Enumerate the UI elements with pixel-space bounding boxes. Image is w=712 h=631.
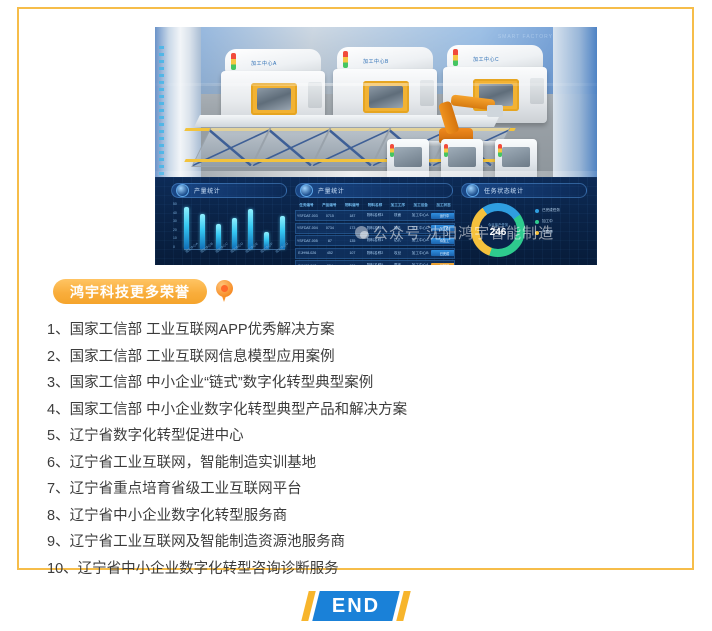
- table-cell: 87: [319, 239, 342, 243]
- table-cell: 铣面: [386, 213, 409, 218]
- table-cell: 攻丝: [386, 251, 409, 256]
- honor-item: 5、辽宁省数字化转型促进中心: [47, 423, 667, 450]
- status-lamp-icon: [343, 51, 348, 68]
- agv-unit: [387, 139, 429, 181]
- agv-unit: [495, 139, 537, 181]
- table-cell: 加工中心A: [409, 213, 432, 218]
- y-tick-label: 0: [173, 246, 183, 249]
- table-cell: EJH88-017: [296, 264, 319, 266]
- table-cell: 452: [319, 251, 342, 255]
- honor-item: 6、辽宁省工业互联网，智能制造实训基地: [47, 450, 667, 477]
- table-column-header: 加工状态: [432, 203, 455, 208]
- location-pin-icon: [216, 280, 233, 303]
- panel-header-output-table: 产量统计: [295, 183, 453, 198]
- donut-ring: 今日接产任务 246: [471, 203, 525, 257]
- legend-color-swatch: [535, 220, 539, 224]
- table-row[interactable]: EJH98-026452107物料名称2攻丝加工中心B已完成: [295, 248, 455, 259]
- table-row[interactable]: YSFDAT-0040734173物料名称4镗孔加工中心D加工中: [295, 223, 455, 234]
- honors-badge: 鸿宇科技更多荣誉: [53, 279, 207, 304]
- robot-end-effector: [487, 105, 503, 117]
- table-cell: 物料名称5: [364, 263, 387, 265]
- honor-item: 3、国家工信部 中小企业“链式”数字化转型典型案例: [47, 370, 667, 397]
- legend-item: 已完成任务25%61: [535, 205, 597, 216]
- status-lamp-icon: [231, 53, 236, 70]
- y-tick-label: 50: [173, 203, 183, 206]
- agv-window: [502, 147, 530, 167]
- table-cell: 135: [341, 239, 364, 243]
- honor-item: 2、国家工信部 工业互联网信息模型应用案例: [47, 344, 667, 371]
- bar-chart-y-axis: 50403020100: [173, 203, 183, 249]
- legend-percent: 25%: [592, 209, 597, 213]
- honor-item: 10、辽宁省中小企业数字化转型咨询诊断服务: [47, 556, 667, 583]
- donut-center: 今日接产任务 246: [479, 211, 517, 249]
- table-cell: 物料名称4: [364, 226, 387, 231]
- end-label: END: [332, 595, 380, 618]
- table-cell: 136: [341, 264, 364, 266]
- y-tick-label: 30: [173, 220, 183, 223]
- status-badge-label: 待加工: [431, 238, 454, 244]
- panel-orb-icon: [176, 184, 189, 197]
- status-badge: 加工中: [431, 225, 454, 231]
- table-cell: 物料名称2: [364, 251, 387, 256]
- status-lamp-icon: [453, 49, 458, 66]
- agv-window: [448, 147, 476, 167]
- legend-item: 已暂停30%74: [535, 227, 597, 238]
- factory-dashboard: 产量统计 产量统计 任务状态统计 50403020100 加工中心A加工中心B加…: [155, 177, 597, 265]
- legend-color-swatch: [535, 209, 539, 213]
- bar-chart-x-axis: 加工中心A加工中心B加工中心C加工中心D加工中心E加工中心F加工中心G: [184, 250, 285, 255]
- donut-legend: 已完成任务25%61加工中40%98已暂停30%74: [535, 205, 597, 238]
- factory-scene: SMART FACTORY 加工中心A 加工中心B: [155, 27, 597, 265]
- panel-header-task-status: 任务状态统计: [461, 183, 587, 198]
- table-cell: 234: [319, 264, 342, 266]
- table-cell: 0734: [319, 226, 342, 230]
- honors-heading: 鸿宇科技更多荣誉: [53, 279, 233, 304]
- table-cell: 加工中心A: [409, 238, 432, 243]
- table-cell: 物料名称3: [364, 213, 387, 218]
- table-cell: YSFDAT-005: [296, 239, 319, 243]
- legend-item: 加工中40%98: [535, 216, 597, 227]
- y-tick-label: 40: [173, 212, 183, 215]
- panel-title-text: 产量统计: [194, 186, 220, 195]
- table-cell: 钻孔: [386, 238, 409, 243]
- honor-item: 4、国家工信部 中小企业数字化转型典型产品和解决方案: [47, 397, 667, 424]
- table-cell: 磨床: [386, 263, 409, 265]
- table-cell: 173: [341, 226, 364, 230]
- panel-orb-icon: [300, 184, 313, 197]
- agv-window: [394, 147, 422, 167]
- status-badge: 已暂停: [431, 263, 454, 266]
- table-column-header: 加工设备: [409, 203, 432, 208]
- status-badge-label: 已暂停: [431, 263, 454, 266]
- bar: [200, 214, 205, 249]
- machine-window: [257, 88, 291, 110]
- honor-item: 7、辽宁省重点培育省级工业互联网平台: [47, 476, 667, 503]
- agv-unit: [441, 139, 483, 181]
- table-row[interactable]: YSFDAT-0030715187物料名称3铣面加工中心A运行中: [295, 210, 455, 221]
- honor-item: 9、辽宁省工业互联网及智能制造资源池服务商: [47, 529, 667, 556]
- table-row[interactable]: YSFDAT-00587135物料名称1钻孔加工中心A待加工: [295, 235, 455, 246]
- panel-orb-icon: [466, 184, 479, 197]
- robot-arm: [417, 95, 503, 143]
- bar: [184, 207, 189, 249]
- legend-percent: 30%: [592, 231, 597, 235]
- table-cell: YSFDAT-004: [296, 226, 319, 230]
- decorative-page-frame: SMART FACTORY 加工中心A 加工中心B: [17, 7, 694, 570]
- legend-label: 已暂停: [542, 230, 589, 235]
- production-bar-chart: 50403020100 加工中心A加工中心B加工中心C加工中心D加工中心E加工中…: [173, 203, 285, 257]
- legend-label: 加工中: [542, 219, 589, 224]
- legend-color-swatch: [535, 231, 539, 235]
- status-badge: 运行中: [431, 213, 454, 219]
- table-column-header: 物料名称: [364, 203, 387, 208]
- production-data-table: 任务编号产品编号物料编号物料名称加工工序加工设备加工状态 YSFDAT-0030…: [295, 201, 455, 261]
- table-header-row: 任务编号产品编号物料编号物料名称加工工序加工设备加工状态: [295, 201, 455, 210]
- right-wall: [553, 27, 597, 189]
- table-column-header: 产品编号: [318, 203, 341, 208]
- table-cell: EJH98-026: [296, 251, 319, 255]
- legend-label: 已完成任务: [542, 208, 589, 213]
- honor-item: 1、国家工信部 工业互联网APP优秀解决方案: [47, 317, 667, 344]
- status-badge-label: 加工中: [431, 225, 454, 231]
- machine-window: [369, 86, 403, 108]
- panel-title-text: 产量统计: [318, 186, 344, 195]
- y-tick-label: 10: [173, 237, 183, 240]
- legend-percent: 40%: [592, 220, 597, 224]
- machine-label: 加工中心C: [473, 56, 499, 63]
- task-status-donut-chart: 今日接产任务 246: [467, 201, 529, 261]
- honor-item: 8、辽宁省中小企业数字化转型服务商: [47, 503, 667, 530]
- table-row[interactable]: EJH88-017234136物料名称5磨床加工中心A已暂停: [295, 260, 455, 265]
- table-cell: 加工中心B: [409, 251, 432, 256]
- status-badge-label: 已完成: [431, 250, 454, 256]
- table-column-header: 物料编号: [341, 203, 364, 208]
- donut-center-value: 246: [490, 228, 507, 238]
- table-cell: 加工中心A: [409, 263, 432, 265]
- machine-control-panel: [530, 78, 544, 104]
- machine-label: 加工中心B: [363, 58, 389, 65]
- smart-factory-illustration: SMART FACTORY 加工中心A 加工中心B: [155, 27, 597, 265]
- table-cell: 镗孔: [386, 226, 409, 231]
- machine-label: 加工中心A: [251, 60, 277, 67]
- table-column-header: 加工工序: [386, 203, 409, 208]
- machine-control-panel: [308, 82, 322, 108]
- table-cell: 物料名称1: [364, 238, 387, 243]
- status-badge: 已完成: [431, 250, 454, 256]
- table-cell: 187: [341, 214, 364, 218]
- table-cell: YSFDAT-003: [296, 214, 319, 218]
- end-badge: END: [0, 589, 712, 623]
- panel-title-text: 任务状态统计: [484, 186, 524, 195]
- y-tick-label: 20: [173, 229, 183, 232]
- table-column-header: 任务编号: [295, 203, 318, 208]
- table-cell: 0715: [319, 214, 342, 218]
- table-cell: 加工中心D: [409, 226, 432, 231]
- honors-list: 1、国家工信部 工业互联网APP优秀解决方案2、国家工信部 工业互联网信息模型应…: [47, 317, 667, 582]
- panel-header-output-chart: 产量统计: [171, 183, 287, 198]
- pin-dot: [221, 285, 228, 292]
- table-cell: 107: [341, 251, 364, 255]
- table-body: YSFDAT-0030715187物料名称3铣面加工中心A运行中YSFDAT-0…: [295, 210, 455, 265]
- end-plate: END: [312, 591, 400, 621]
- status-badge: 待加工: [431, 238, 454, 244]
- status-badge-label: 运行中: [431, 213, 454, 219]
- hero-corner-text: SMART FACTORY: [498, 34, 553, 40]
